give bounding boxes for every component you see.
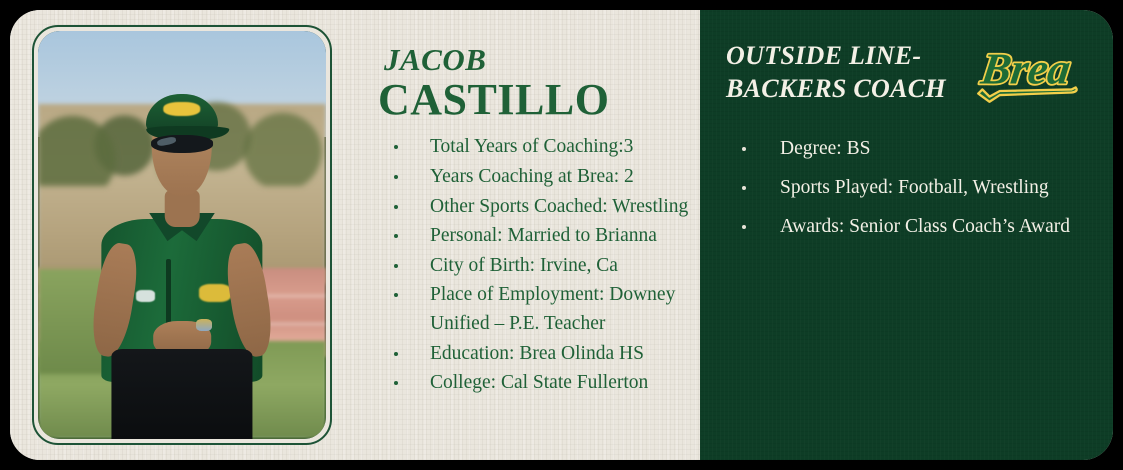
list-item: College: Cal State Fullerton <box>378 369 690 398</box>
cap-brea-logo <box>163 102 200 117</box>
coach-profile-card: JACOB CASTILLO Total Years of Coaching:3… <box>10 10 1113 460</box>
shorts <box>111 349 252 439</box>
photo-frame <box>32 25 332 445</box>
shirt-placket <box>166 259 171 324</box>
list-item: Years Coaching at Brea: 2 <box>378 163 690 192</box>
coach-facts-list: Total Years of Coaching:3 Years Coaching… <box>378 133 690 398</box>
list-item: Awards: Senior Class Coach’s Award <box>726 212 1087 242</box>
brea-logo-icon: Brea <box>969 36 1087 108</box>
screenshot-root: JACOB CASTILLO Total Years of Coaching:3… <box>0 0 1123 470</box>
list-item: Education: Brea Olinda HS <box>378 340 690 369</box>
list-item: Total Years of Coaching:3 <box>378 133 690 162</box>
coach-figure <box>38 31 326 439</box>
shirt-brand-logo <box>136 290 155 302</box>
brea-logo: Brea <box>969 36 1087 108</box>
coach-photo <box>38 31 326 439</box>
wristwatch <box>196 319 212 331</box>
coach-first-name: JACOB <box>384 44 690 75</box>
list-item: Degree: BS <box>726 134 1087 164</box>
right-panel: OUTSIDE LINE-BACKERS COACH Brea Degree: … <box>700 10 1113 460</box>
left-panel: JACOB CASTILLO Total Years of Coaching:3… <box>10 10 700 460</box>
list-item: Place of Employment: Downey Unified – P.… <box>378 281 690 338</box>
list-item: Personal: Married to Brianna <box>378 222 690 251</box>
list-item: City of Birth: Irvine, Ca <box>378 252 690 281</box>
list-item: Other Sports Coached: Wrestling <box>378 193 690 222</box>
role-header: OUTSIDE LINE-BACKERS COACH Brea <box>726 40 1087 108</box>
sunglasses <box>151 135 213 153</box>
coach-last-name: CASTILLO <box>378 77 690 123</box>
role-title: OUTSIDE LINE-BACKERS COACH <box>726 40 963 106</box>
list-item: Sports Played: Football, Wrestling <box>726 173 1087 203</box>
coach-info-column: JACOB CASTILLO Total Years of Coaching:3… <box>332 10 700 460</box>
shirt-brea-logo <box>199 284 231 302</box>
coach-credentials-list: Degree: BS Sports Played: Football, Wres… <box>726 134 1087 243</box>
svg-text:Brea: Brea <box>977 43 1073 93</box>
